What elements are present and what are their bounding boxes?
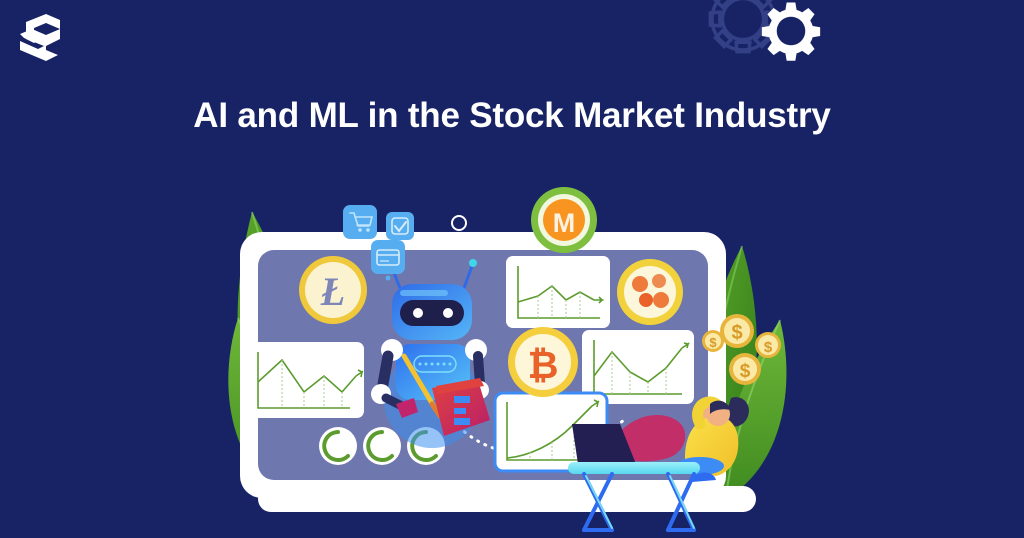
ripple-coin: [617, 259, 683, 325]
svg-text:$: $: [740, 361, 751, 382]
svg-text:₿: ₿: [528, 345, 559, 387]
svg-text:$: $: [731, 322, 742, 344]
svg-text:$: $: [709, 335, 717, 350]
dollar-coin-2: $: [720, 314, 754, 348]
checkbox-check-icon[interactable]: [386, 212, 414, 240]
monero-coin: M: [531, 187, 597, 253]
svg-text:$: $: [764, 339, 773, 356]
progress-ring-1: [319, 427, 357, 465]
litecoin-coin: Ł: [299, 256, 367, 324]
ai-ml-stock-market-illustration: Ł M ₿ $ $: [0, 0, 1024, 538]
chart-card-left: [246, 342, 364, 418]
circle-outline-icon: [452, 216, 466, 230]
svg-text:M: M: [553, 208, 576, 238]
robot-visor: [400, 300, 464, 326]
dollar-coin-4: $: [729, 353, 761, 385]
bitcoin-coin: ₿: [508, 327, 578, 397]
robot-eye-right: [443, 308, 453, 318]
progress-ring-2: [363, 427, 401, 465]
robot-antenna-tip-right: [469, 259, 477, 267]
poster-canvas: AI and ML in the Stock Market Industry: [0, 0, 1024, 538]
shopping-cart-icon[interactable]: [343, 205, 377, 239]
robot-eye-left: [413, 308, 423, 318]
chart-card-top-left: [506, 256, 610, 328]
svg-text:Ł: Ł: [320, 269, 345, 314]
desk-top: [568, 462, 700, 474]
dollar-coin-3: $: [755, 332, 781, 358]
